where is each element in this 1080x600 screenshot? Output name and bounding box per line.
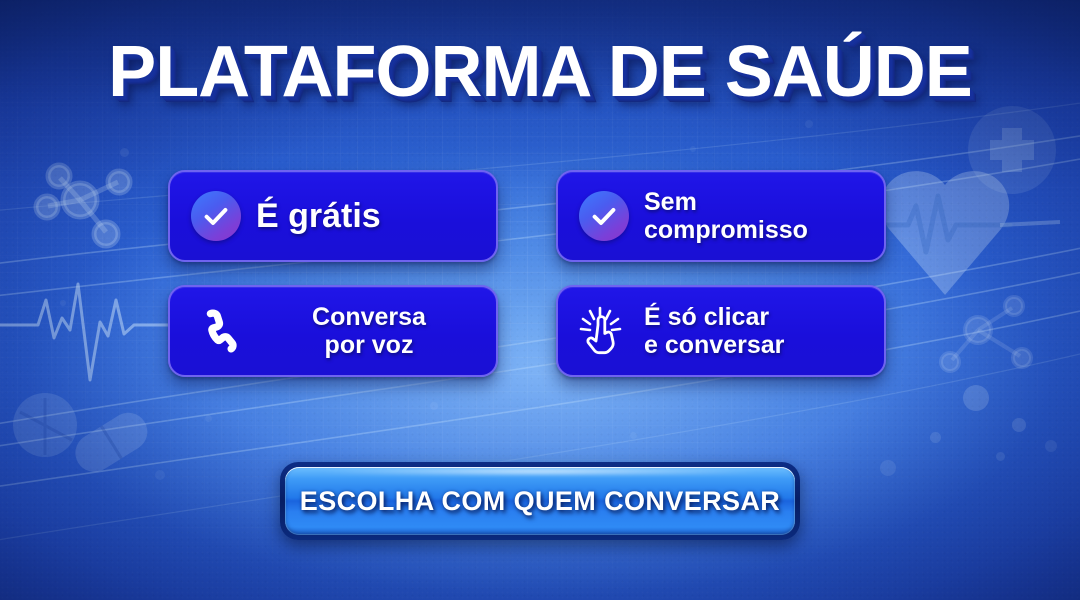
feature-label-line-1: Sem [644,188,808,216]
feature-card-voice-chat[interactable]: Conversa por voz [168,285,498,377]
choose-who-to-talk-button[interactable]: ESCOLHA COM QUEM CONVERSAR [285,467,795,535]
page-title-container: PLATAFORMA DE SAÚDE [0,36,1080,108]
check-circle-icon [191,191,241,241]
feature-label-just-click: É só clicar e conversar [644,303,784,359]
phone-icon [193,308,239,354]
check-circle-icon-box [576,188,632,244]
feature-label-line-1: Conversa [256,303,482,331]
cta-container: ESCOLHA COM QUEM CONVERSAR [280,462,800,540]
feature-card-just-click[interactable]: É só clicar e conversar [556,285,886,377]
feature-label-line-2: por voz [256,331,482,359]
click-hand-icon [578,305,630,357]
feature-card-grid: É grátis Sem compromisso [168,170,912,400]
click-hand-icon-box [576,303,632,359]
feature-label-voice-chat: Conversa por voz [256,303,496,359]
check-circle-icon-box [188,188,244,244]
feature-label-no-commitment: Sem compromisso [644,188,808,244]
poster-stage: PLATAFORMA DE SAÚDE É grátis [0,0,1080,600]
feature-card-no-commitment[interactable]: Sem compromisso [556,170,886,262]
page-title: PLATAFORMA DE SAÚDE [0,36,1080,108]
feature-card-free[interactable]: É grátis [168,170,498,262]
cta-shine [316,468,765,475]
feature-label-free: É grátis [256,197,381,235]
feature-label-line-1: É só clicar [644,303,784,331]
cta-label: ESCOLHA COM QUEM CONVERSAR [300,486,780,517]
feature-label-line-2: e conversar [644,331,784,359]
feature-label-line-2: compromisso [644,216,808,244]
feature-card-row-1: É grátis Sem compromisso [168,170,912,262]
cta-frame: ESCOLHA COM QUEM CONVERSAR [280,462,800,540]
check-circle-icon [579,191,629,241]
feature-card-row-2: Conversa por voz [168,285,912,377]
phone-icon-box [188,303,244,359]
